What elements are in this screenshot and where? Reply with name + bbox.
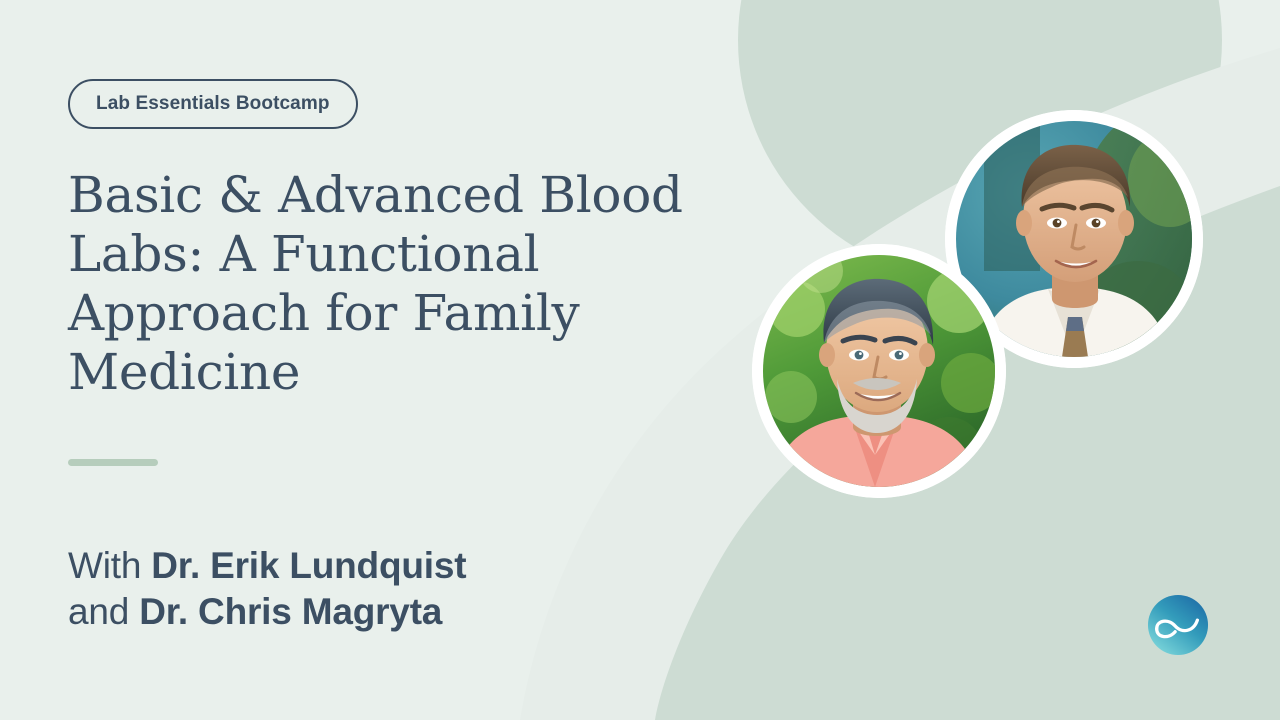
content-column: Lab Essentials Bootcamp Basic & Advanced… [68, 0, 728, 720]
brand-logo [1147, 594, 1209, 656]
presenter-prefix-and: and [68, 591, 139, 632]
webinar-title-slide: Lab Essentials Bootcamp Basic & Advanced… [0, 0, 1280, 720]
page-title: Basic & Advanced Blood Labs: A Functiona… [68, 166, 718, 402]
presenters-line: With Dr. Erik Lundquist and Dr. Chris Ma… [68, 543, 688, 635]
divider-rule [68, 459, 158, 466]
presenter-name-one: Dr. Erik Lundquist [151, 545, 466, 586]
presenter-name-two: Dr. Chris Magryta [139, 591, 442, 632]
avatar-dr-erik-lundquist [752, 244, 1006, 498]
badge-lab-essentials-bootcamp: Lab Essentials Bootcamp [68, 79, 358, 129]
presenter-prefix-with: With [68, 545, 151, 586]
avatar-photo [763, 255, 995, 487]
